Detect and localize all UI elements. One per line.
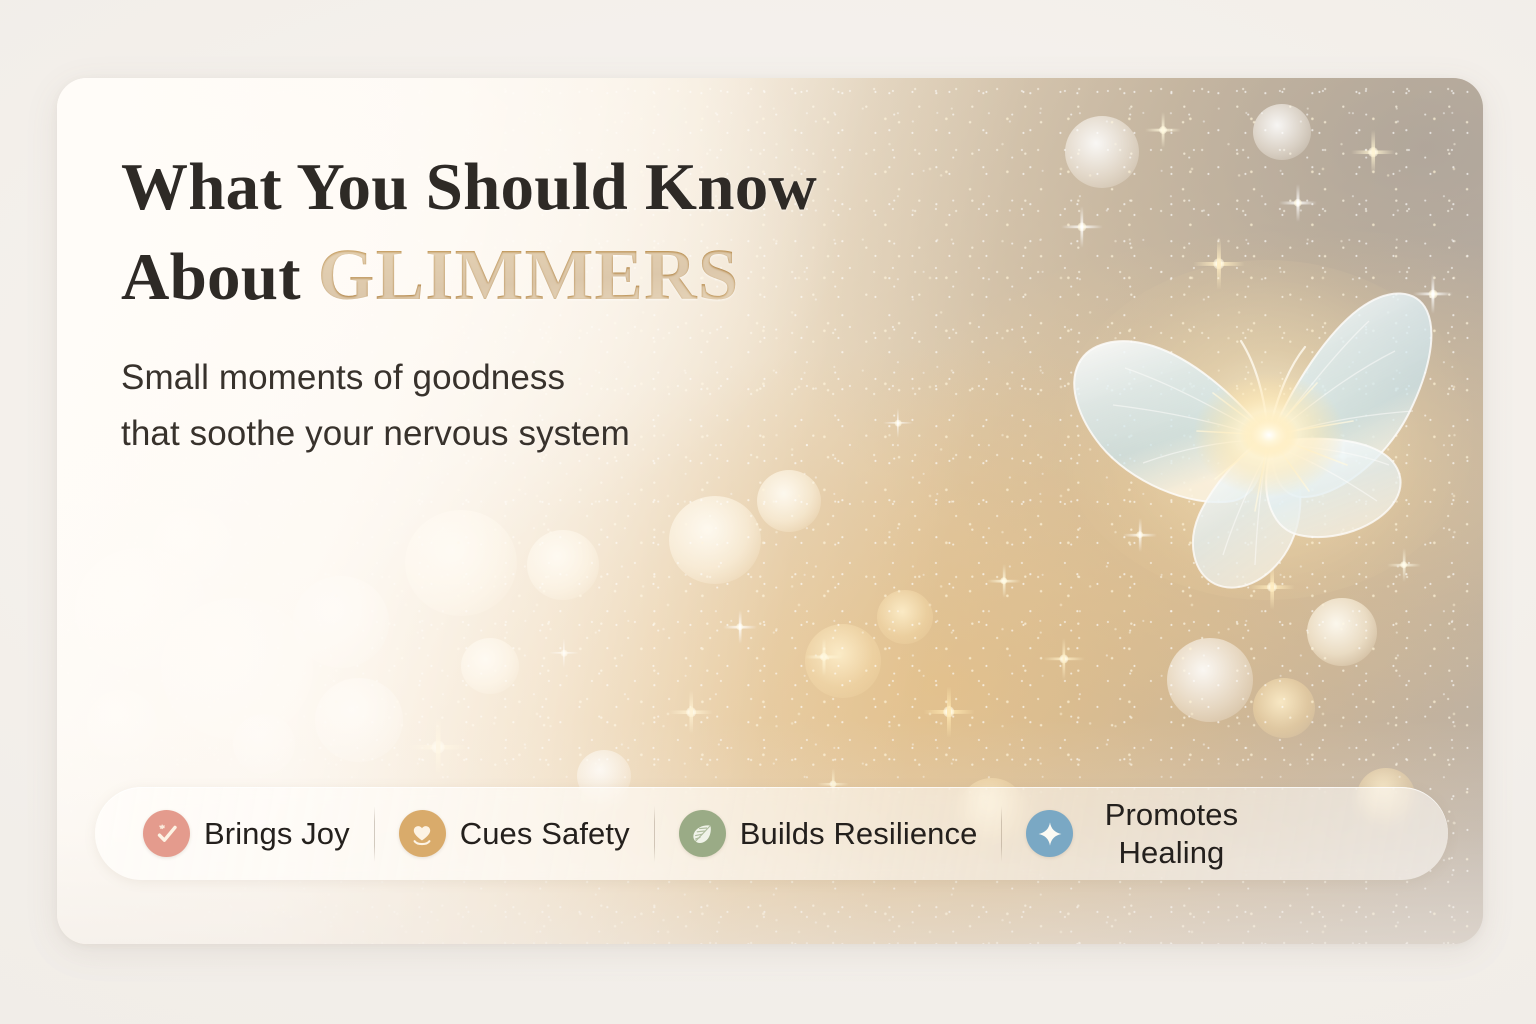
glimmers-info-card: What You Should Know About GLIMMERS Smal… [57,78,1483,944]
page-title: What You Should Know About GLIMMERS [121,152,951,314]
headline-glimmers-word: GLIMMERS [318,234,740,315]
badge-label: Brings Joy [204,815,350,853]
badge-cues-safety[interactable]: Cues Safety [375,787,654,880]
badge-promotes-healing[interactable]: Promotes Healing [1002,787,1265,880]
badge-label: Cues Safety [460,815,630,853]
benefits-badge-bar: Brings Joy Cues Safety [95,787,1448,880]
headline-line-2: About GLIMMERS [121,236,951,314]
badge-label: Promotes Healing [1087,796,1255,872]
headline-line-1: What You Should Know [121,150,817,224]
headline-block: What You Should Know About GLIMMERS Smal… [121,152,951,463]
check-icon [143,810,190,857]
badge-brings-joy[interactable]: Brings Joy [95,787,374,880]
badge-builds-resilience[interactable]: Builds Resilience [655,787,1002,880]
headline-line-2-prefix: About [121,240,318,314]
subtitle-line-2: that soothe your nervous system [121,406,951,463]
heart-icon [399,810,446,857]
subtitle: Small moments of goodness that soothe yo… [121,350,951,463]
leaf-icon [679,810,726,857]
subtitle-line-1: Small moments of goodness [121,350,951,407]
badge-label: Builds Resilience [740,815,978,853]
sparkle-icon [1026,810,1073,857]
page-root: What You Should Know About GLIMMERS Smal… [0,0,1536,1024]
